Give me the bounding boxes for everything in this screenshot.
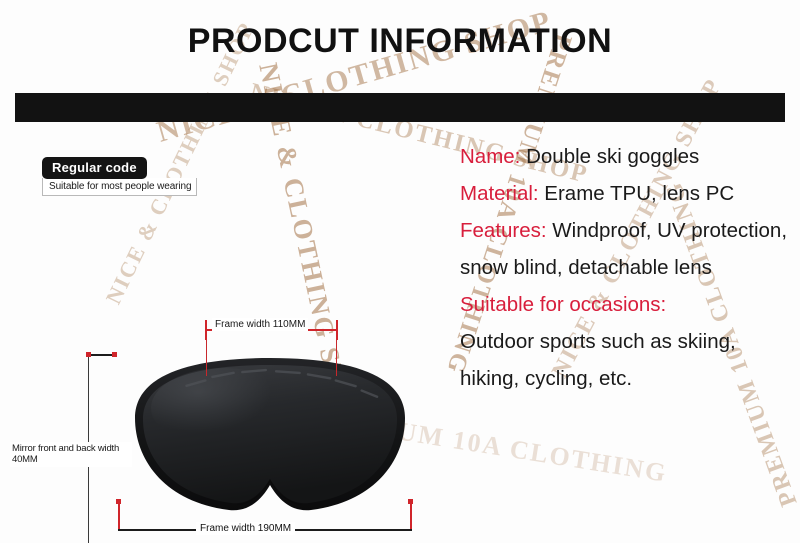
dimension-tick-right (410, 500, 412, 530)
spec-value: Erame TPU, lens PC (539, 182, 735, 205)
dimension-label-bottom: Frame width 190MM (196, 522, 295, 535)
ski-goggles-image (125, 352, 415, 518)
dimension-leader-left (206, 340, 207, 376)
dimension-marker (116, 499, 121, 504)
regular-code-caption: Suitable for most people wearing (42, 178, 197, 196)
spec-row-occasions-label: Suitable for occasions: (460, 286, 795, 323)
dimension-tick-left (118, 500, 120, 530)
header-divider-band (15, 93, 785, 122)
dimension-label-top: Frame width 110MM (212, 318, 308, 331)
dimension-marker (408, 499, 413, 504)
dimension-leader-right (336, 340, 337, 376)
spec-row-name: Name: Double ski goggles (460, 138, 795, 175)
dimension-marker (86, 352, 91, 357)
spec-row-occasions-value: Outdoor sports such as skiing, hiking, c… (460, 323, 795, 397)
spec-row-features: Features: Windproof, UV protection, snow… (460, 212, 795, 286)
spec-row-material: Material: Erame TPU, lens PC (460, 175, 795, 212)
product-spec-list: Name: Double ski goggles Material: Erame… (460, 138, 795, 397)
product-illustration-panel: Regular code Suitable for most people we… (0, 122, 450, 543)
regular-code-badge: Regular code (42, 157, 147, 179)
regular-code-callout: Regular code Suitable for most people we… (42, 157, 197, 196)
spec-label: Features: (460, 219, 547, 242)
spec-label: Suitable for occasions: (460, 293, 666, 316)
spec-label: Material: (460, 182, 539, 205)
dimension-tick-right (336, 320, 338, 340)
dimension-tick-left (205, 320, 207, 340)
spec-label: Name: (460, 145, 520, 168)
spec-value: Outdoor sports such as skiing, hiking, c… (460, 330, 736, 390)
page-title: PRODCUT INFORMATION (0, 22, 800, 61)
dimension-marker (112, 352, 117, 357)
product-information-page: NICE & CLOTHING SHOP NICE & CLOTHING SHO… (0, 0, 800, 543)
spec-value: Double ski goggles (520, 145, 699, 168)
dimension-label-left: Mirror front and back width 40MM (10, 442, 132, 467)
